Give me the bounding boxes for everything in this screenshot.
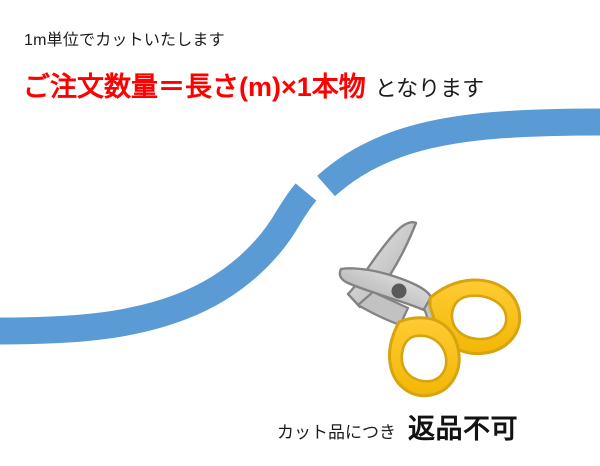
lead-note-text: 1m単位でカットいたします bbox=[24, 33, 225, 49]
scissors-pivot-icon bbox=[392, 284, 407, 299]
caution-row: カット品につき返品不可 bbox=[277, 416, 518, 443]
scissors-handle-right-hole bbox=[452, 296, 506, 339]
headline-row: ご注文数量＝長さ(m)×1本物となります bbox=[23, 74, 484, 101]
banner-artwork bbox=[0, 0, 600, 466]
headline-suffix-text: となります bbox=[366, 76, 484, 101]
cable-segment-right bbox=[326, 122, 600, 186]
scissors-handle-left-hole bbox=[402, 336, 447, 382]
caution-emphasis-text: 返品不可 bbox=[396, 414, 518, 444]
headline-emphasis-text: ご注文数量＝長さ(m)×1本物 bbox=[23, 72, 366, 102]
cut-notice-banner: 1m単位でカットいたします ご注文数量＝長さ(m)×1本物となります カット品に… bbox=[0, 0, 600, 466]
cable-segment-left bbox=[0, 192, 306, 331]
caution-prefix-text: カット品につき bbox=[277, 423, 396, 442]
scissors-icon bbox=[340, 222, 520, 395]
